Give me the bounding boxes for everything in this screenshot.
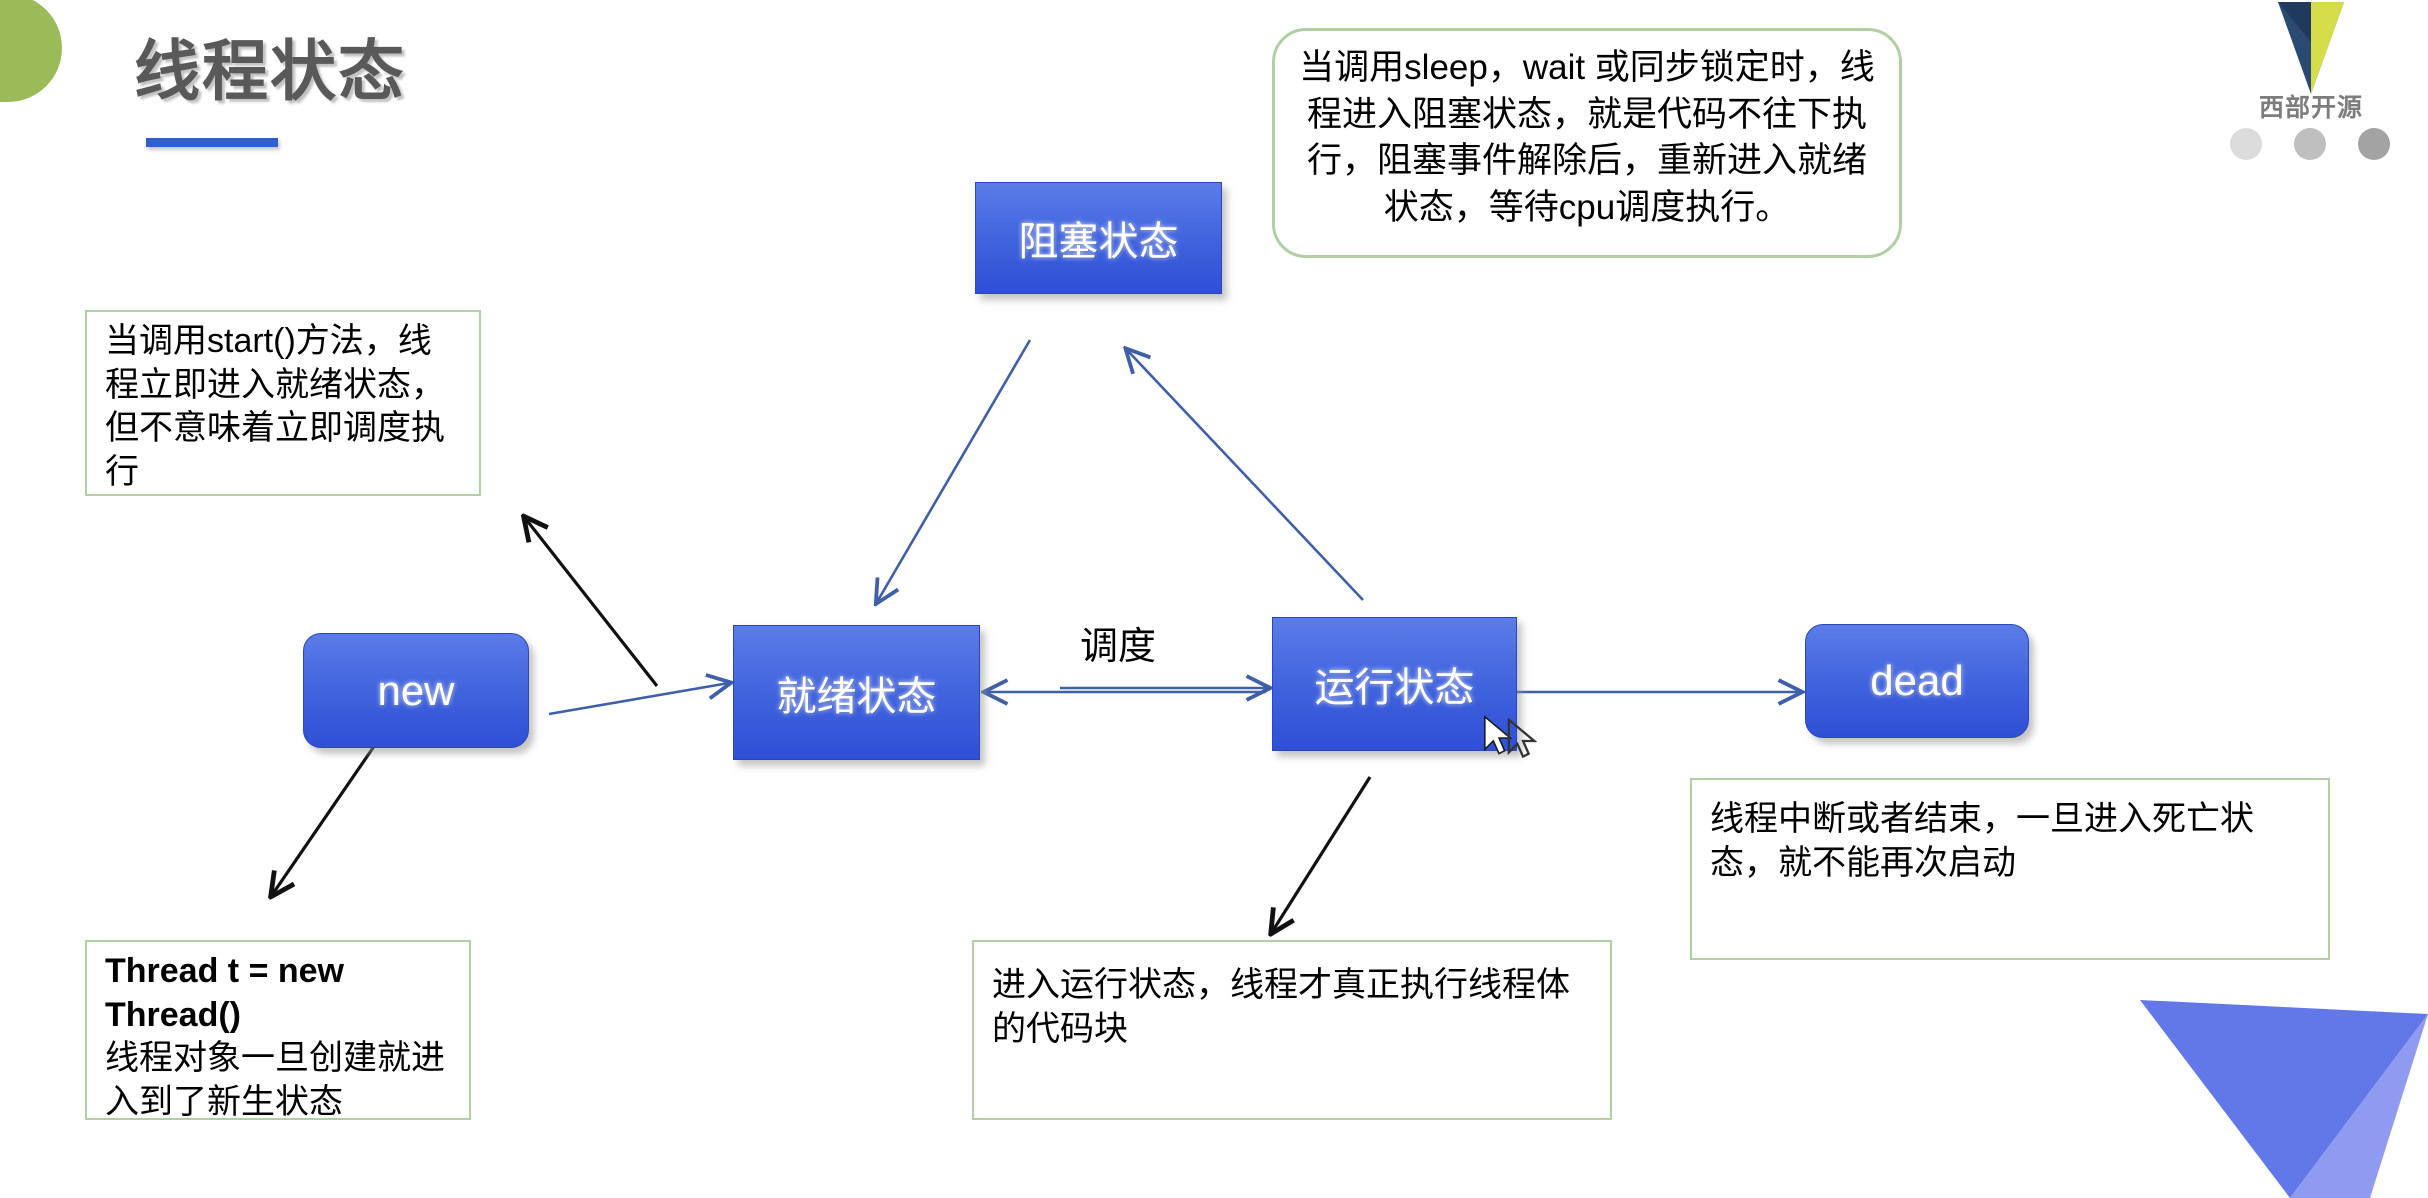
note-running-state: 进入运行状态，线程才真正执行线程体的代码块 — [972, 940, 1612, 1120]
arrow-blocked-to-ready — [877, 340, 1030, 602]
v-logo-icon — [2216, 2, 2406, 97]
state-node-blocked-label: 阻塞状态 — [1019, 209, 1179, 267]
state-node-ready-label: 就绪状态 — [777, 664, 937, 722]
edge-label-schedule: 调度 — [1080, 615, 1156, 670]
note-start-method: 当调用start()方法，线程立即进入就绪状态，但不意味着立即调度执行 — [85, 310, 481, 496]
page-title: 线程状态 — [134, 18, 406, 114]
corner-triangle-decoration — [2140, 1000, 2428, 1198]
state-node-new[interactable]: new — [303, 633, 529, 748]
green-accent-shape — [0, 0, 62, 102]
dot-light-icon — [2230, 128, 2262, 160]
note-blocked-state: 当调用sleep，wait 或同步锁定时，线程进入阻塞状态，就是代码不往下执行，… — [1272, 28, 1902, 258]
arrow-note-start-callout — [525, 518, 657, 686]
state-node-ready[interactable]: 就绪状态 — [733, 625, 980, 760]
arrow-new-note-callout — [272, 742, 377, 895]
title-underline — [146, 138, 278, 147]
note-thread-creation: Thread t = new Thread() 线程对象一旦创建就进入到了新生状… — [85, 940, 471, 1120]
dot-mid-icon — [2294, 128, 2326, 160]
note-thread-code: Thread t = new Thread() — [105, 952, 344, 1034]
state-node-running[interactable]: 运行状态 — [1272, 617, 1517, 751]
state-node-new-label: new — [377, 667, 454, 715]
state-node-running-label: 运行状态 — [1315, 655, 1475, 713]
logo-text: 西部开源 — [2216, 88, 2406, 124]
note-dead-state: 线程中断或者结束，一旦进入死亡状态，就不能再次启动 — [1690, 778, 2330, 960]
arrow-running-note-callout — [1272, 777, 1370, 932]
dot-dark-icon — [2358, 128, 2390, 160]
arrow-running-to-blocked — [1127, 350, 1363, 600]
brand-logo: 西部开源 — [2216, 2, 2406, 182]
arrow-new-to-ready — [549, 683, 729, 714]
logo-dots — [2230, 128, 2390, 160]
state-node-dead[interactable]: dead — [1805, 624, 2029, 738]
state-node-blocked[interactable]: 阻塞状态 — [975, 182, 1222, 294]
state-node-dead-label: dead — [1870, 657, 1963, 705]
note-thread-body: 线程对象一旦创建就进入到了新生状态 — [105, 1039, 445, 1121]
